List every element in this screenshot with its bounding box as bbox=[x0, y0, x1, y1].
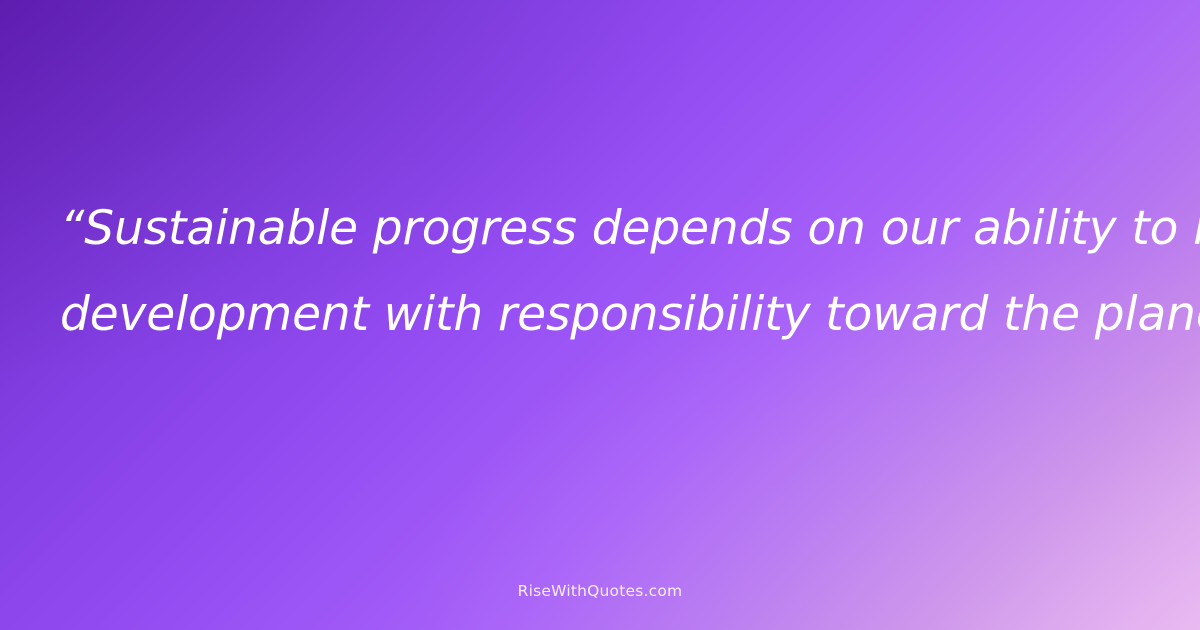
quote-line-2: development with responsibility toward t… bbox=[60, 272, 1140, 358]
quote-text-block: “Sustainable progress depends on our abi… bbox=[0, 186, 1200, 358]
quote-line-1: “Sustainable progress depends on our abi… bbox=[60, 186, 1140, 272]
site-credit: RiseWithQuotes.com bbox=[0, 580, 1200, 602]
quote-card: “Sustainable progress depends on our abi… bbox=[0, 0, 1200, 630]
